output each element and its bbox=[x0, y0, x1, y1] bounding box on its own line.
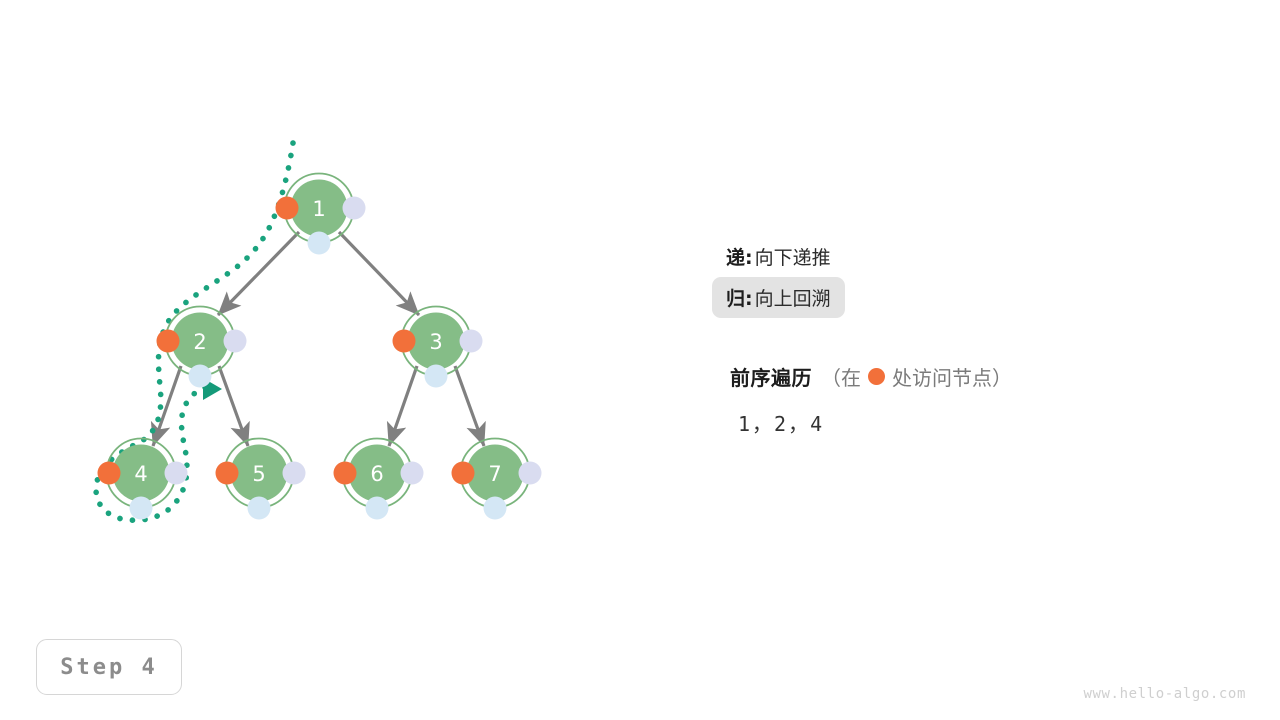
visit-dot-icon bbox=[868, 368, 885, 385]
legend-value-recurse: 向下递推 bbox=[755, 243, 831, 270]
watermark: www.hello-algo.com bbox=[1083, 686, 1246, 702]
edge-1-2 bbox=[218, 232, 299, 315]
tree-nodes: 1 2 3 bbox=[98, 174, 542, 520]
node-visit-dot bbox=[157, 330, 180, 353]
node-label: 3 bbox=[429, 330, 442, 354]
edge-2-4 bbox=[153, 366, 181, 446]
tree-node-4[interactable]: 4 bbox=[98, 439, 188, 520]
node-label: 1 bbox=[312, 197, 325, 221]
node-label: 5 bbox=[252, 462, 265, 486]
tree-node-6[interactable]: 6 bbox=[334, 439, 424, 520]
node-visit-dot bbox=[98, 462, 121, 485]
node-bottom-dot bbox=[248, 497, 271, 520]
legend-row-backtrack: 归: 向上回溯 bbox=[712, 277, 845, 318]
node-bottom-dot bbox=[189, 365, 212, 388]
node-bottom-dot bbox=[308, 232, 331, 255]
traversal-title: 前序遍历 （在 处访问节点） bbox=[730, 362, 1250, 391]
node-visit-dot bbox=[393, 330, 416, 353]
node-visit-dot bbox=[334, 462, 357, 485]
binary-tree-diagram: 1 2 3 bbox=[0, 0, 1280, 720]
edge-3-7 bbox=[455, 366, 484, 446]
node-visit-dot bbox=[452, 462, 475, 485]
node-right-dot bbox=[165, 462, 188, 485]
node-right-dot bbox=[519, 462, 542, 485]
traversal-info: 前序遍历 （在 处访问节点） 1，2，4 bbox=[730, 362, 1250, 437]
step-label: Step 4 bbox=[60, 655, 157, 680]
visualization-stage: 1 2 3 bbox=[0, 0, 1280, 720]
node-bottom-dot bbox=[484, 497, 507, 520]
node-label: 2 bbox=[193, 330, 206, 354]
traversal-note-prefix: （在 bbox=[821, 362, 861, 391]
node-right-dot bbox=[401, 462, 424, 485]
node-bottom-dot bbox=[130, 497, 153, 520]
node-label: 7 bbox=[488, 462, 501, 486]
legend-key-backtrack: 归: bbox=[726, 284, 753, 311]
traversal-sequence: 1，2，4 bbox=[730, 408, 1250, 437]
node-right-dot bbox=[224, 330, 247, 353]
node-bottom-dot bbox=[366, 497, 389, 520]
recursion-legend: 递: 向下递推 归: 向上回溯 bbox=[726, 236, 1246, 318]
tree-node-5[interactable]: 5 bbox=[216, 439, 306, 520]
step-badge: Step 4 bbox=[36, 639, 182, 695]
node-right-dot bbox=[283, 462, 306, 485]
node-label: 4 bbox=[134, 462, 147, 486]
traversal-note-suffix: 处访问节点） bbox=[892, 362, 1012, 391]
edge-1-3 bbox=[339, 232, 419, 315]
node-visit-dot bbox=[276, 197, 299, 220]
node-bottom-dot bbox=[425, 365, 448, 388]
tree-node-7[interactable]: 7 bbox=[452, 439, 542, 520]
watermark-text: www.hello-algo.com bbox=[1083, 686, 1246, 702]
node-right-dot bbox=[343, 197, 366, 220]
edge-3-6 bbox=[389, 366, 417, 446]
edge-2-5 bbox=[219, 366, 248, 446]
tree-node-3[interactable]: 3 bbox=[393, 307, 483, 388]
traversal-name: 前序遍历 bbox=[730, 362, 812, 391]
node-visit-dot bbox=[216, 462, 239, 485]
legend-row-recurse: 递: 向下递推 bbox=[726, 236, 1246, 277]
legend-value-backtrack: 向上回溯 bbox=[755, 284, 831, 311]
legend-key-recurse: 递: bbox=[726, 243, 753, 270]
node-label: 6 bbox=[370, 462, 383, 486]
traversal-note: （在 处访问节点） bbox=[821, 362, 1012, 391]
node-right-dot bbox=[460, 330, 483, 353]
